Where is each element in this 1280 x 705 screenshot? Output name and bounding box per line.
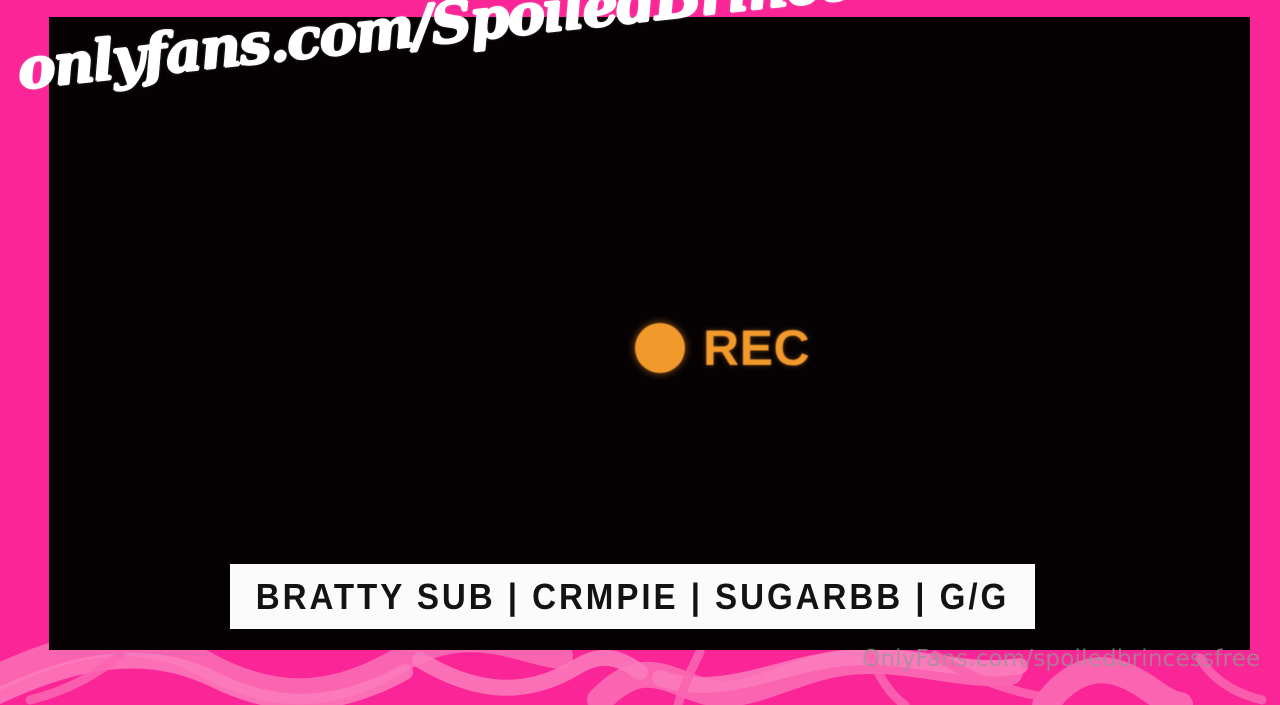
caption-bar: BRATTY SUB | CRMPIE | SUGARBB | G/G [230,564,1035,629]
rec-label: REC [703,323,810,373]
video-frame: REC BRATTY SUB | CRMPIE | SUGARBB | G/G [49,17,1250,650]
rec-indicator: REC [635,323,810,373]
record-dot-icon [635,323,685,373]
caption-text: BRATTY SUB | CRMPIE | SUGARBB | G/G [256,579,1009,615]
promo-image-canvas: REC BRATTY SUB | CRMPIE | SUGARBB | G/G … [0,0,1280,705]
